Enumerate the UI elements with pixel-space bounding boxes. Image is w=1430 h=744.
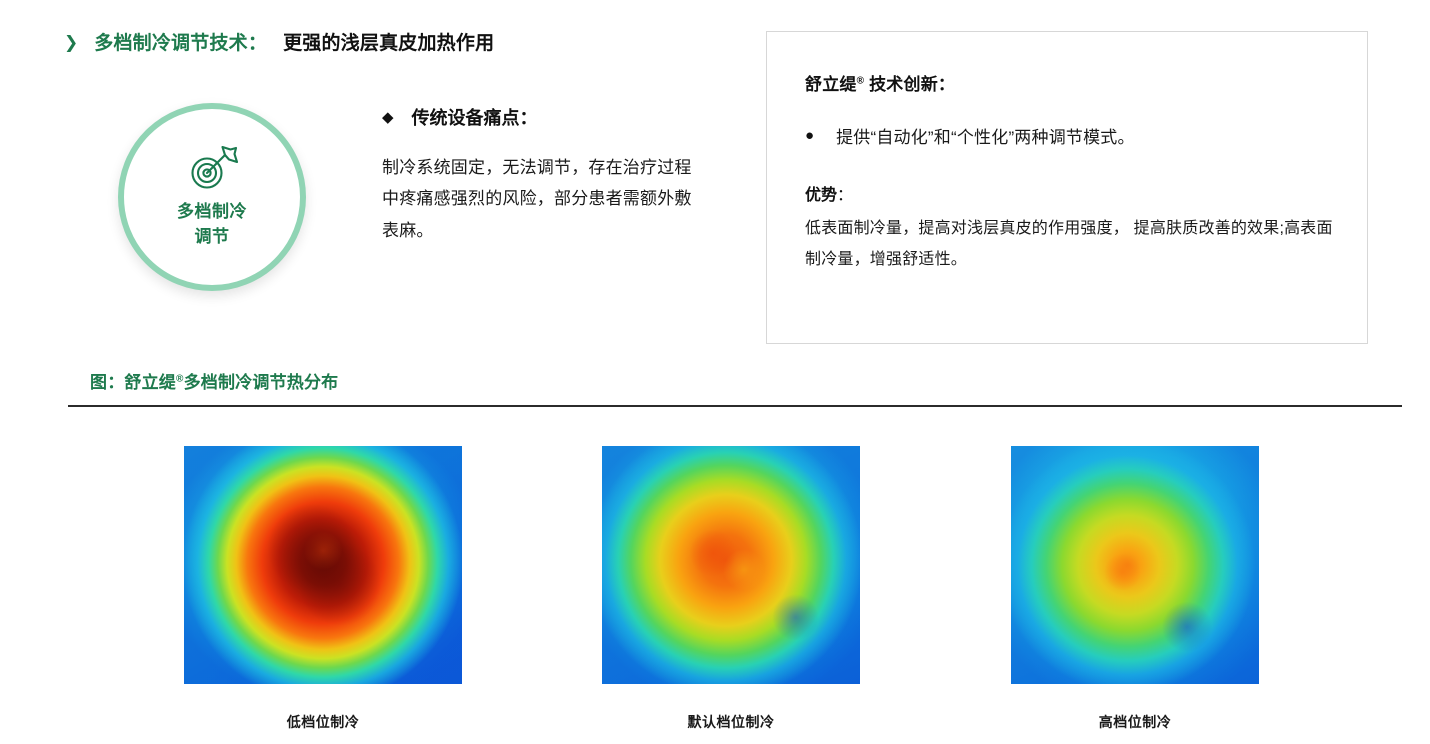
section-title-black: 更强的浅层真皮加热作用 <box>283 28 494 55</box>
registered-trademark-icon: ® <box>176 373 184 384</box>
thermal-image-high <box>1011 446 1259 684</box>
advantage-colon: ： <box>837 187 853 204</box>
figure-caption-rest: 多档制冷调节热分布 <box>184 373 339 392</box>
section-title-green: 多档制冷调节技术： <box>94 28 267 55</box>
multi-stage-cooling-badge: 多档制冷 调节 <box>118 103 306 291</box>
panel-bullet-text: 提供“自动化”和“个性化”两种调节模式。 <box>836 125 1135 151</box>
painpoint-title: 传统设备痛点： <box>412 104 538 130</box>
diamond-bullet-icon: ◆ <box>382 110 394 125</box>
panel-title-brand: 舒立缇 <box>805 75 857 94</box>
badge-label-line2: 调节 <box>177 225 247 250</box>
thermal-cell-high <box>1011 446 1259 684</box>
arrow-right-marker-icon: ❯ <box>64 34 78 51</box>
section-heading: ❯ 多档制冷调节技术： 更强的浅层真皮加热作用 <box>64 28 494 55</box>
figure-divider <box>68 405 1402 407</box>
thermal-label-high: 高档位制冷 <box>1011 712 1259 732</box>
figure-caption: 图：舒立缇®多档制冷调节热分布 <box>90 368 338 393</box>
figure-caption-prefix: 图：舒立缇 <box>90 373 176 392</box>
round-bullet-icon: ● <box>805 125 814 148</box>
badge-label: 多档制冷 调节 <box>177 200 247 249</box>
thermal-cell-default <box>602 446 860 684</box>
badge-label-line1: 多档制冷 <box>177 200 247 225</box>
thermal-image-low <box>184 446 462 684</box>
technology-innovation-panel: 舒立缇® 技术创新： ● 提供“自动化”和“个性化”两种调节模式。 优势： 低表… <box>766 31 1368 344</box>
panel-title: 舒立缇® 技术创新： <box>805 70 1337 95</box>
thermal-image-row <box>0 446 1430 686</box>
advantage-label-row: 优势： <box>805 181 1337 205</box>
thermal-label-low: 低档位制冷 <box>184 712 462 732</box>
thermal-cell-low <box>184 446 462 684</box>
thermal-label-row: 低档位制冷 默认档位制冷 高档位制冷 <box>0 712 1430 736</box>
painpoint-body: 制冷系统固定，无法调节，存在治疗过程中疼痛感强烈的风险，部分患者需额外敷表麻。 <box>382 152 692 246</box>
painpoint-title-row: ◆ 传统设备痛点： <box>382 104 692 130</box>
advantage-label: 优势 <box>805 187 837 204</box>
panel-title-rest: 技术创新： <box>864 75 955 94</box>
painpoint-block: ◆ 传统设备痛点： 制冷系统固定，无法调节，存在治疗过程中疼痛感强烈的风险，部分… <box>382 104 692 246</box>
panel-bullet-row: ● 提供“自动化”和“个性化”两种调节模式。 <box>805 125 1337 151</box>
thermal-label-default: 默认档位制冷 <box>602 712 860 732</box>
thermal-image-default <box>602 446 860 684</box>
target-dart-icon <box>186 144 238 192</box>
advantage-body: 低表面制冷量，提高对浅层真皮的作用强度， 提高肤质改善的效果;高表面制冷量，增强… <box>805 213 1337 275</box>
